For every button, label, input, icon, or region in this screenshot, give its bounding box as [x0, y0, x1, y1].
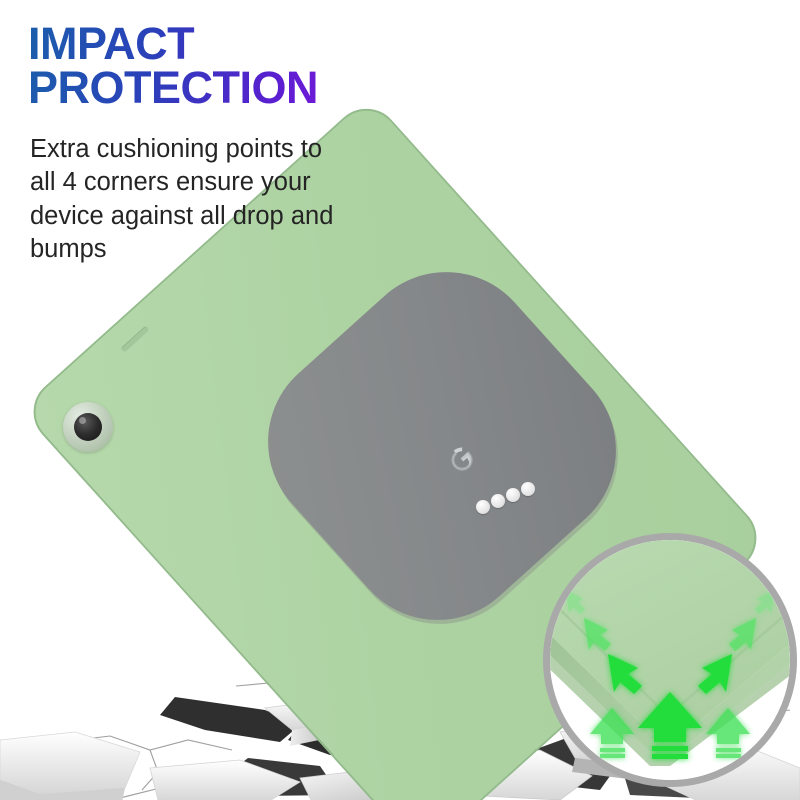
page-subtitle: Extra cushioning points to all 4 corners…: [30, 133, 350, 267]
pogo-pin-contact: [491, 494, 505, 508]
camera-lens-glint: [79, 417, 86, 424]
page-title: IMPACT PROTECTION: [28, 22, 428, 110]
inset-content: [550, 540, 790, 780]
corner-cushion-detail-inset: [543, 533, 797, 787]
pogo-pin-contact: [476, 500, 490, 514]
inset-ring-border: [543, 533, 797, 787]
pogo-pin-contact: [521, 482, 535, 496]
marketing-image-canvas: IMPACT PROTECTION Extra cushioning point…: [0, 0, 800, 800]
pogo-pin-contact: [506, 488, 520, 502]
rear-camera-lens: [74, 413, 102, 441]
